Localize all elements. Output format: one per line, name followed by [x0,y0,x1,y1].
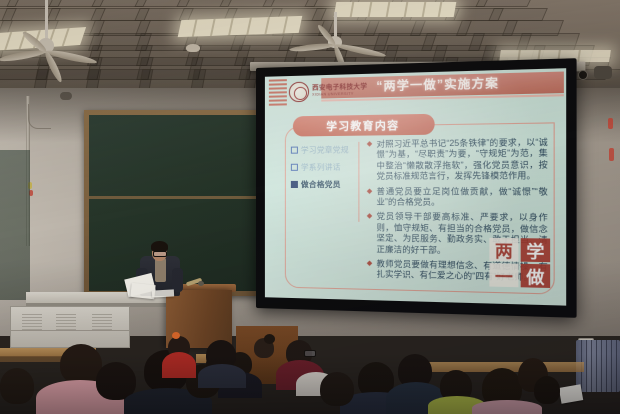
slide-watermark: 两 学 一 做 [489,238,561,297]
ceiling-speaker-left [60,92,72,100]
university-name-cn: 西安电子科技大学 [312,84,367,92]
watermark-char-1: 学 [521,238,550,262]
checkbox-icon [291,147,298,154]
slide-nav-label: 学系列讲话 [301,161,341,172]
wall-speaker [594,66,612,79]
chalkboard-divider [89,196,263,199]
ceiling-tile [475,0,532,7]
slide-bullet-1: ◆ 普通党员要立足岗位做贡献，做“诚憬”“敬业”的合格党员。 [367,187,548,209]
bullet-diamond-icon: ◆ [367,187,373,208]
camera-lens-icon [578,70,588,80]
smoke-detector [186,44,200,52]
audience-head [320,372,354,406]
podium-mic-base [198,281,204,286]
bullet-diamond-icon: ◆ [367,140,373,183]
watermark-char-2: 一 [489,263,518,287]
wall-mark-red-upper [608,118,613,129]
slide-nav-label: 学习党章党规 [301,144,349,156]
audience-hair-bun [264,334,275,344]
audience-head [0,368,34,404]
slide-bullet-text: 对照习近平总书记“25条铁律”的要求，以“诚憬”为基，“尽职责”为要，“守规矩”… [377,137,548,182]
checkbox-icon [291,164,298,171]
slide-bullet-text: 普通党员要立足岗位做贡献，做“诚憬”“敬业”的合格党员。 [377,187,548,209]
ceiling-fan-left [16,0,76,62]
lecture-hall-photo: “两学一做”实施方案 西安电子科技大学 XIDIAN UNIVERSITY 学习… [0,0,620,414]
slide-nav-item-1: 学系列讲话 [291,161,352,173]
presentation-slide: “两学一做”实施方案 西安电子科技大学 XIDIAN UNIVERSITY 学习… [265,68,566,305]
slide-section-heading-label: 学习教育内容 [326,117,399,134]
wall-wire [28,104,51,129]
checkbox-checked-icon [291,181,298,188]
slide-nav-item-0: 学习党章党规 [291,144,352,156]
audience-glasses-icon [304,350,316,357]
cabinet-seam [10,330,130,331]
slide-nav-label: 做合格党员 [301,179,341,190]
presenter-shirt [155,258,166,282]
university-logo: 西安电子科技大学 XIDIAN UNIVERSITY [289,78,365,104]
projection-screen: “两学一做”实施方案 西安电子科技大学 XIDIAN UNIVERSITY 学习… [256,58,577,318]
wall-mark-red-mid [609,148,614,161]
slide-stripe-decoration [269,79,287,110]
chalkboard-left-panel [0,150,30,300]
slide-bullet-0: ◆ 对照习近平总书记“25条铁律”的要求，以“诚憬”为基，“尽职责”为要，“守规… [367,137,548,182]
audience-shoulders [198,364,246,388]
presenter-glasses-icon [153,251,167,257]
slide-vertical-divider [358,142,359,222]
desk-paper-sheet [152,289,174,297]
bullet-diamond-icon: ◆ [367,212,373,255]
audience-head [534,376,560,404]
slide-section-heading: 学习教育内容 [293,114,435,137]
university-seal-icon [289,82,309,103]
bullet-diamond-icon: ◆ [367,259,373,281]
slide-nav-item-2-active: 做合格党员 [291,179,352,190]
audience-shoulders [162,352,196,378]
slide-nav-list: 学习党章党规 学系列讲话 做合格党员 [291,144,352,196]
watermark-char-3: 做 [521,264,550,288]
university-name-en: XIDIAN UNIVERSITY [312,93,367,98]
audience-shoulders [472,400,542,414]
watermark-char-0: 两 [489,238,518,262]
audience-paper-sheet [559,384,583,404]
audience-ponytail-tie [172,332,180,339]
